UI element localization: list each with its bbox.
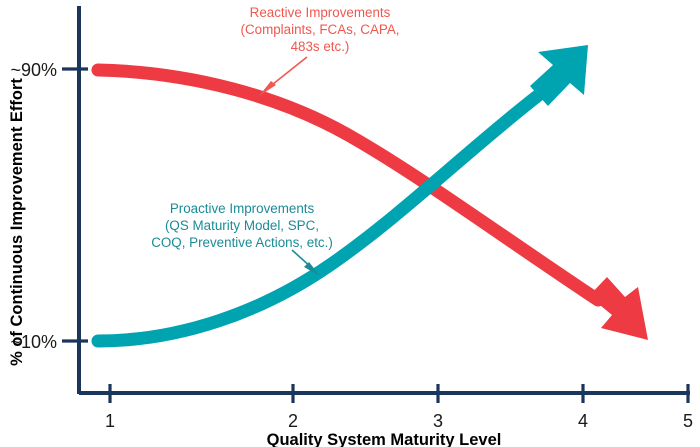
reactive-curve-arrowhead bbox=[589, 277, 648, 340]
proactive-annotation-line-1: Proactive Improvements bbox=[170, 201, 315, 216]
reactive-annotation: Reactive Improvements (Complaints, FCAs,… bbox=[241, 5, 400, 96]
proactive-annotation: Proactive Improvements (QS Maturity Mode… bbox=[151, 201, 333, 276]
x-tick-label-2: 2 bbox=[288, 411, 298, 431]
x-tick-label-5: 5 bbox=[683, 411, 693, 431]
x-axis-tick-labels: 1 2 3 4 5 bbox=[105, 411, 693, 431]
y-tick-label-90: ~90% bbox=[10, 60, 57, 80]
x-tick-label-1: 1 bbox=[105, 411, 115, 431]
x-tick-label-4: 4 bbox=[578, 411, 588, 431]
y-axis-title: % of Continuous Improvement Effort bbox=[8, 78, 26, 366]
reactive-annotation-line-2: (Complaints, FCAs, CAPA, bbox=[241, 22, 400, 37]
chart-canvas: 1 2 3 4 5 ~90% ~10% Quality System Matur… bbox=[0, 0, 700, 447]
y-axis-ticks bbox=[62, 69, 88, 341]
proactive-annotation-line-2: (QS Maturity Model, SPC, bbox=[165, 218, 319, 233]
proactive-annotation-line-3: COQ, Preventive Actions, etc.) bbox=[151, 235, 333, 250]
reactive-annotation-line-1: Reactive Improvements bbox=[250, 5, 391, 20]
x-axis-title: Quality System Maturity Level bbox=[267, 431, 502, 447]
proactive-improvements-curve bbox=[98, 45, 588, 341]
x-tick-label-3: 3 bbox=[433, 411, 443, 431]
chart-container: 1 2 3 4 5 ~90% ~10% Quality System Matur… bbox=[0, 0, 700, 447]
reactive-annotation-line-3: 483s etc.) bbox=[291, 39, 350, 54]
